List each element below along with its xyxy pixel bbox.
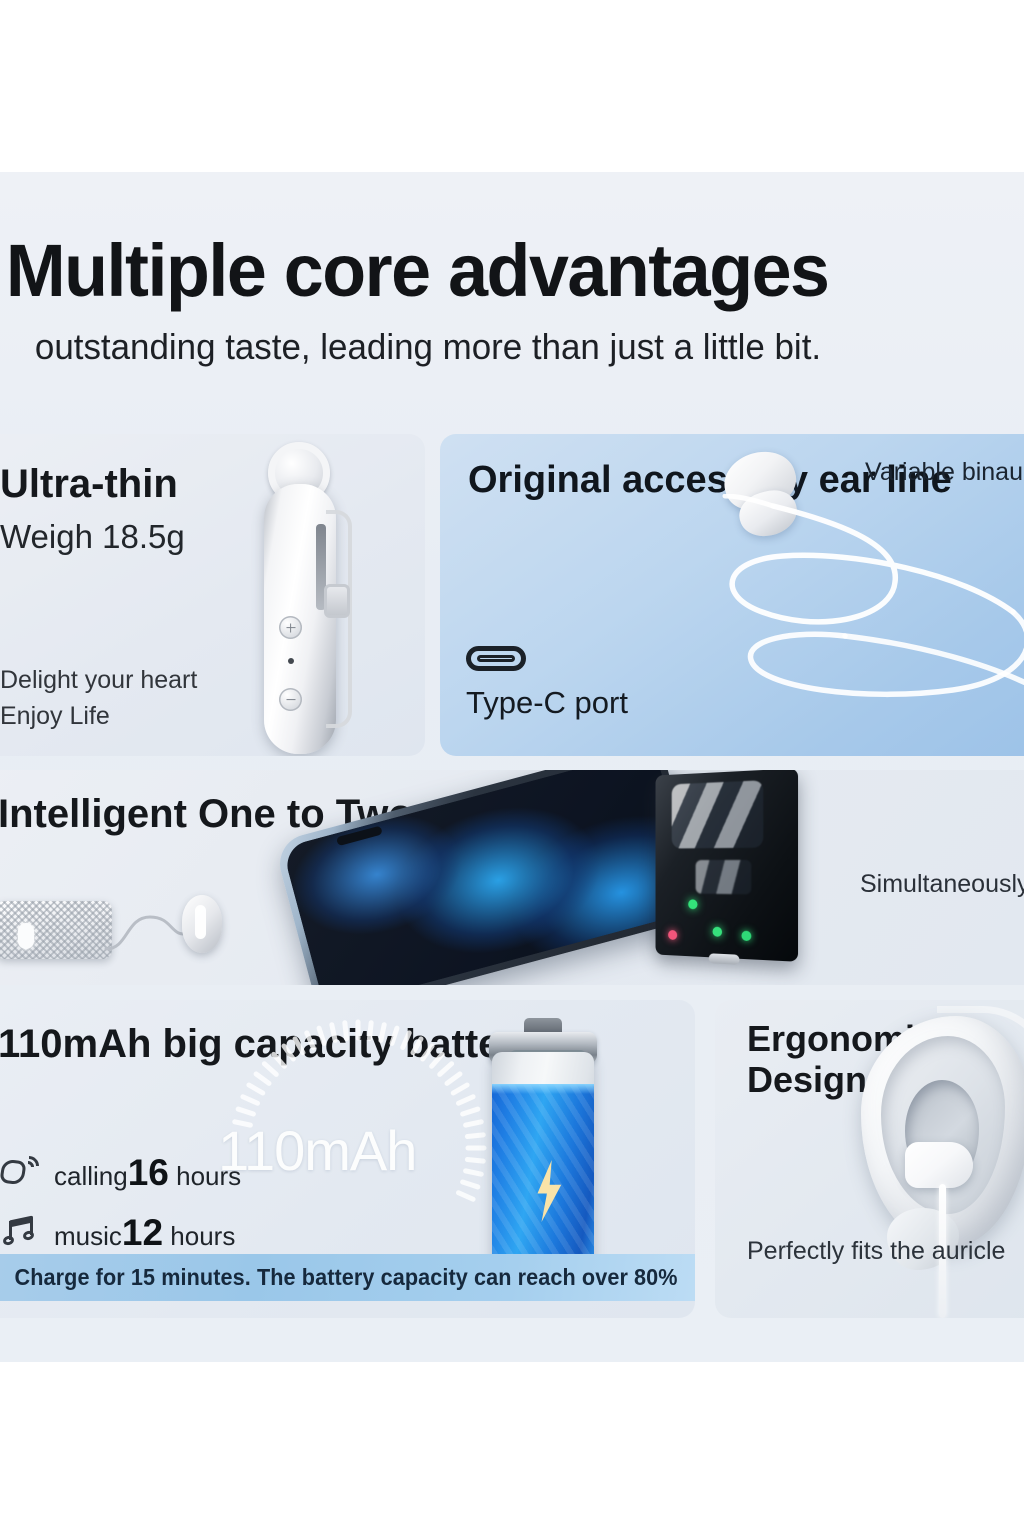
ear-with-earbud-image bbox=[843, 1002, 1024, 1318]
usb-c-port-icon bbox=[466, 646, 526, 671]
earpiece-hook bbox=[326, 510, 352, 728]
battery-illustration bbox=[484, 1018, 602, 1280]
page-title: Multiple core advantages bbox=[0, 234, 993, 308]
feature-card-ear-line: Original accessory ear line Type-C port … bbox=[440, 434, 1024, 756]
phone-call-icon bbox=[0, 1153, 40, 1193]
music-note-head-right bbox=[22, 1230, 35, 1241]
mini-earbud bbox=[182, 895, 222, 953]
infographic-page: Multiple core advantages outstanding tas… bbox=[0, 0, 1024, 1536]
ultrathin-tagline-2: Enjoy Life bbox=[0, 702, 110, 731]
battery-fill-surface bbox=[492, 1084, 594, 1094]
music-note-head-left bbox=[2, 1235, 15, 1246]
feature-card-one-to-two: Intelligent One to Two bbox=[0, 770, 1024, 985]
typec-label: Type-C port bbox=[466, 685, 628, 721]
case-led-red bbox=[668, 930, 677, 940]
page-subtitle: outstanding taste, leading more than jus… bbox=[0, 326, 993, 368]
earpiece-microphone bbox=[288, 658, 294, 664]
typec-port-group: Type-C port bbox=[466, 646, 628, 721]
music-note-shape bbox=[3, 1218, 35, 1248]
battery-capacity-watermark: 110mAh bbox=[218, 1118, 416, 1183]
feature-card-ultrathin: Ultra-thin Weigh 18.5g Delight your hear… bbox=[0, 434, 425, 756]
spec-row-music: music12 hours bbox=[0, 1212, 235, 1254]
ergonomic-subtitle: Perfectly fits the auricle bbox=[747, 1235, 1005, 1267]
spec-calling-label: calling bbox=[54, 1161, 128, 1191]
battery-body bbox=[492, 1052, 594, 1280]
ultrathin-weight: Weigh 18.5g bbox=[0, 518, 185, 556]
spec-music-unit: hours bbox=[170, 1221, 235, 1251]
case-reflection-bottom bbox=[696, 860, 752, 895]
music-note-icon bbox=[0, 1213, 40, 1253]
spec-music-label: music bbox=[54, 1221, 122, 1251]
earbud-charging-case-image bbox=[656, 770, 798, 962]
mini-earbud-highlight bbox=[195, 905, 206, 939]
earpiece-volume-up-button bbox=[279, 616, 302, 639]
charge-banner-text: Charge for 15 minutes. The battery capac… bbox=[0, 1264, 678, 1291]
case-led-green bbox=[688, 899, 697, 909]
case-reflection-top bbox=[672, 780, 764, 848]
bluetooth-earpiece-image bbox=[248, 436, 368, 756]
speaker-and-earbud-image bbox=[0, 895, 226, 967]
spec-row-calling: calling16 hours bbox=[0, 1152, 241, 1194]
case-led-green bbox=[741, 931, 751, 942]
spec-calling-text: calling16 hours bbox=[54, 1152, 241, 1194]
earbud-in-ear bbox=[905, 1142, 973, 1188]
header-block: Multiple core advantages outstanding tas… bbox=[0, 234, 1024, 368]
binaural-stereo-callout: Variable binaural stereo bbox=[865, 456, 1024, 490]
feature-card-ergonomic: Ergonomic Design Perfectly fits the auri… bbox=[715, 1000, 1024, 1318]
infographic-canvas: Multiple core advantages outstanding tas… bbox=[0, 172, 1024, 1362]
charging-case-body bbox=[656, 770, 798, 962]
spec-calling-value: 16 bbox=[128, 1152, 169, 1193]
earpiece-volume-down-button bbox=[279, 688, 302, 711]
spec-music-value: 12 bbox=[122, 1212, 163, 1253]
case-foot bbox=[709, 953, 740, 965]
speaker-device bbox=[0, 901, 112, 959]
charge-info-banner: Charge for 15 minutes. The battery capac… bbox=[0, 1254, 695, 1301]
spec-calling-unit: hours bbox=[176, 1161, 241, 1191]
ultrathin-tagline-1: Delight your heart bbox=[0, 666, 197, 695]
ultrathin-title: Ultra-thin bbox=[0, 462, 178, 507]
spec-music-text: music12 hours bbox=[54, 1212, 235, 1254]
simultaneous-devices-callout: Simultaneously supporting 2 devices bbox=[860, 868, 1024, 902]
speaker-indicator-light bbox=[18, 923, 34, 949]
ear-line-wire-graphic bbox=[695, 494, 1024, 744]
earpiece-clip bbox=[324, 584, 350, 618]
case-led-green bbox=[713, 927, 723, 937]
